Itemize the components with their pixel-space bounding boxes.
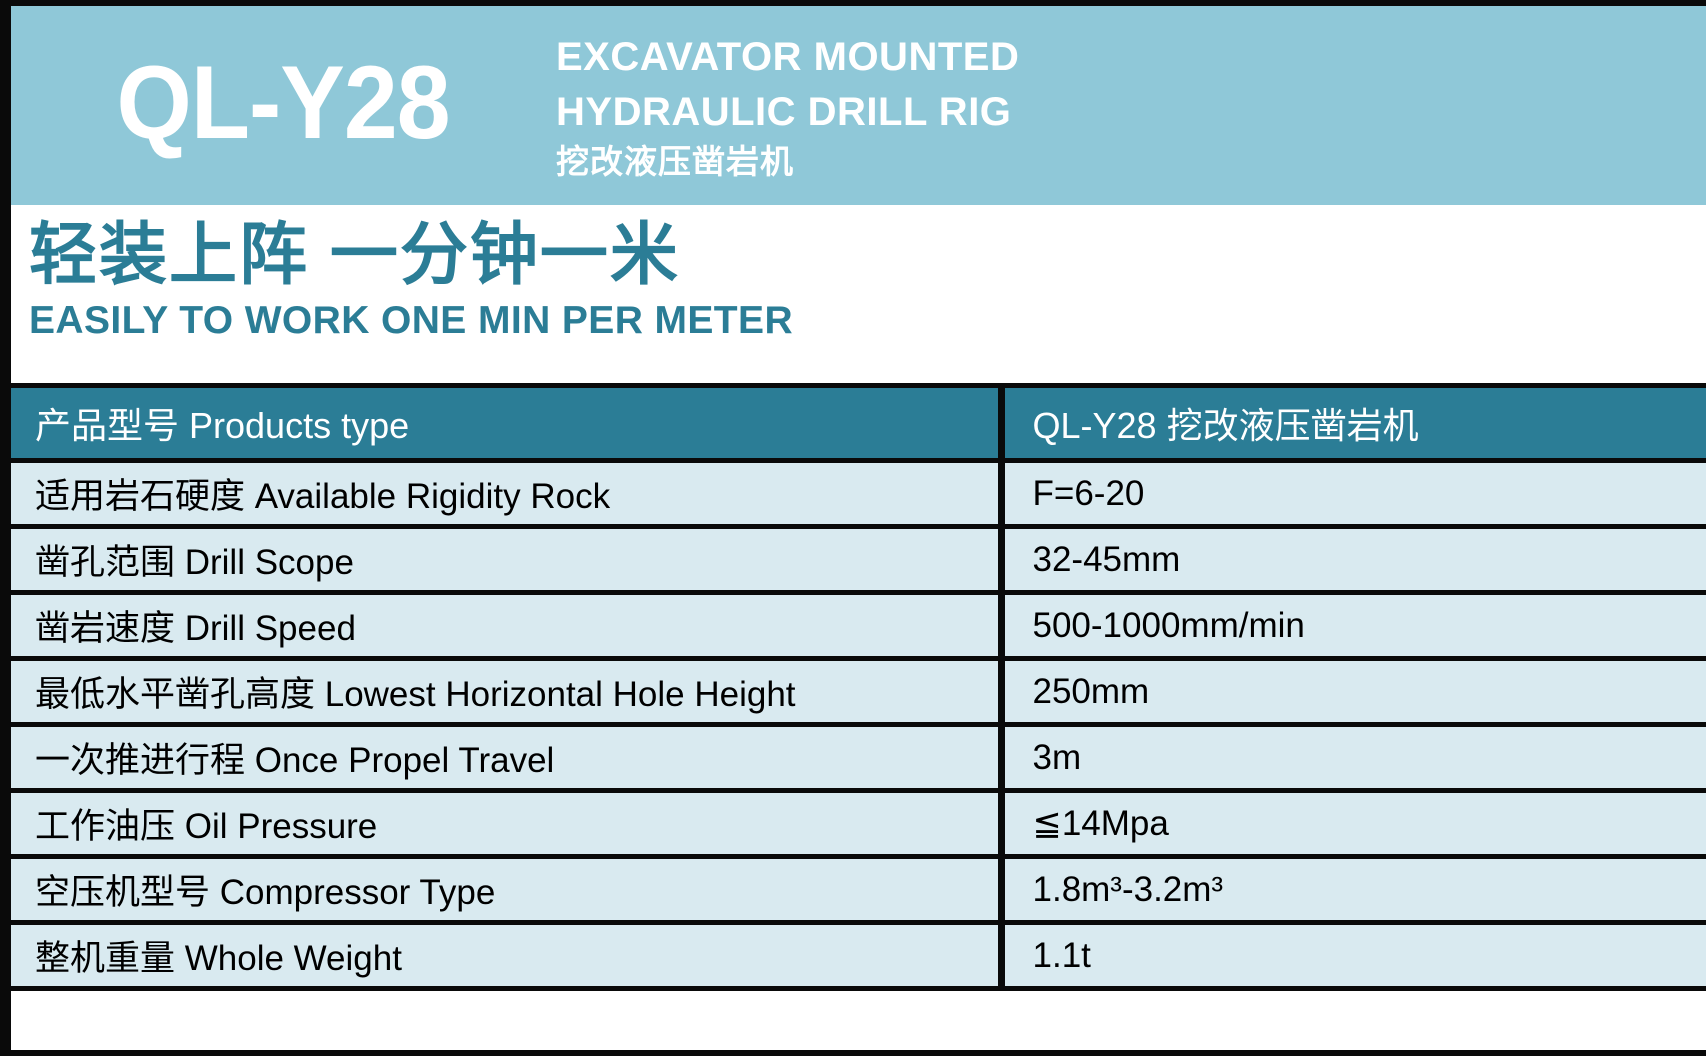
- spec-label: 凿孔范围 Drill Scope: [11, 527, 1001, 593]
- spec-label: 最低水平凿孔高度 Lowest Horizontal Hole Height: [11, 659, 1001, 725]
- table-row: 凿岩速度 Drill Speed500-1000mm/min: [11, 593, 1706, 659]
- product-banner: QL-Y28 EXCAVATOR MOUNTED HYDRAULIC DRILL…: [11, 6, 1706, 205]
- table-row: 适用岩石硬度 Available Rigidity RockF=6-20: [11, 461, 1706, 527]
- spec-label: 适用岩石硬度 Available Rigidity Rock: [11, 461, 1001, 527]
- slogan-block: 轻装上阵 一分钟一米 EASILY TO WORK ONE MIN PER ME…: [11, 205, 1706, 383]
- spec-label: 一次推进行程 Once Propel Travel: [11, 725, 1001, 791]
- slogan-chinese: 轻装上阵 一分钟一米: [29, 215, 1706, 295]
- spec-value: 1.1t: [1001, 923, 1706, 989]
- banner-title-line2: HYDRAULIC DRILL RIG: [556, 85, 1706, 140]
- model-name: QL-Y28: [117, 51, 450, 155]
- table-row: 空压机型号 Compressor Type1.8m³-3.2m³: [11, 857, 1706, 923]
- table-row: 最低水平凿孔高度 Lowest Horizontal Hole Height25…: [11, 659, 1706, 725]
- column-header-product-type: 产品型号 Products type: [11, 386, 1001, 461]
- spec-value: ≦14Mpa: [1001, 791, 1706, 857]
- specification-table: 产品型号 Products type QL-Y28 挖改液压凿岩机 适用岩石硬度…: [11, 383, 1706, 991]
- spec-label: 空压机型号 Compressor Type: [11, 857, 1001, 923]
- spec-value: F=6-20: [1001, 461, 1706, 527]
- spec-label: 凿岩速度 Drill Speed: [11, 593, 1001, 659]
- column-header-product-value: QL-Y28 挖改液压凿岩机: [1001, 386, 1706, 461]
- model-badge: QL-Y28: [11, 6, 556, 205]
- spec-value: 3m: [1001, 725, 1706, 791]
- table-header-row: 产品型号 Products type QL-Y28 挖改液压凿岩机: [11, 386, 1706, 461]
- spec-table-body: 适用岩石硬度 Available Rigidity RockF=6-20凿孔范围…: [11, 461, 1706, 989]
- spec-label: 工作油压 Oil Pressure: [11, 791, 1001, 857]
- banner-title-group: EXCAVATOR MOUNTED HYDRAULIC DRILL RIG 挖改…: [556, 6, 1706, 205]
- spec-value: 1.8m³-3.2m³: [1001, 857, 1706, 923]
- table-row: 整机重量 Whole Weight1.1t: [11, 923, 1706, 989]
- slogan-english: EASILY TO WORK ONE MIN PER METER: [29, 297, 1706, 345]
- table-row: 工作油压 Oil Pressure≦14Mpa: [11, 791, 1706, 857]
- banner-title-line1: EXCAVATOR MOUNTED: [556, 30, 1706, 85]
- spec-value: 32-45mm: [1001, 527, 1706, 593]
- spec-value: 250mm: [1001, 659, 1706, 725]
- table-row: 一次推进行程 Once Propel Travel3m: [11, 725, 1706, 791]
- table-row: 凿孔范围 Drill Scope32-45mm: [11, 527, 1706, 593]
- product-spec-sheet: QL-Y28 EXCAVATOR MOUNTED HYDRAULIC DRILL…: [0, 0, 1706, 1056]
- banner-title-chinese: 挖改液压凿岩机: [556, 140, 1706, 185]
- spec-label: 整机重量 Whole Weight: [11, 923, 1001, 989]
- spec-value: 500-1000mm/min: [1001, 593, 1706, 659]
